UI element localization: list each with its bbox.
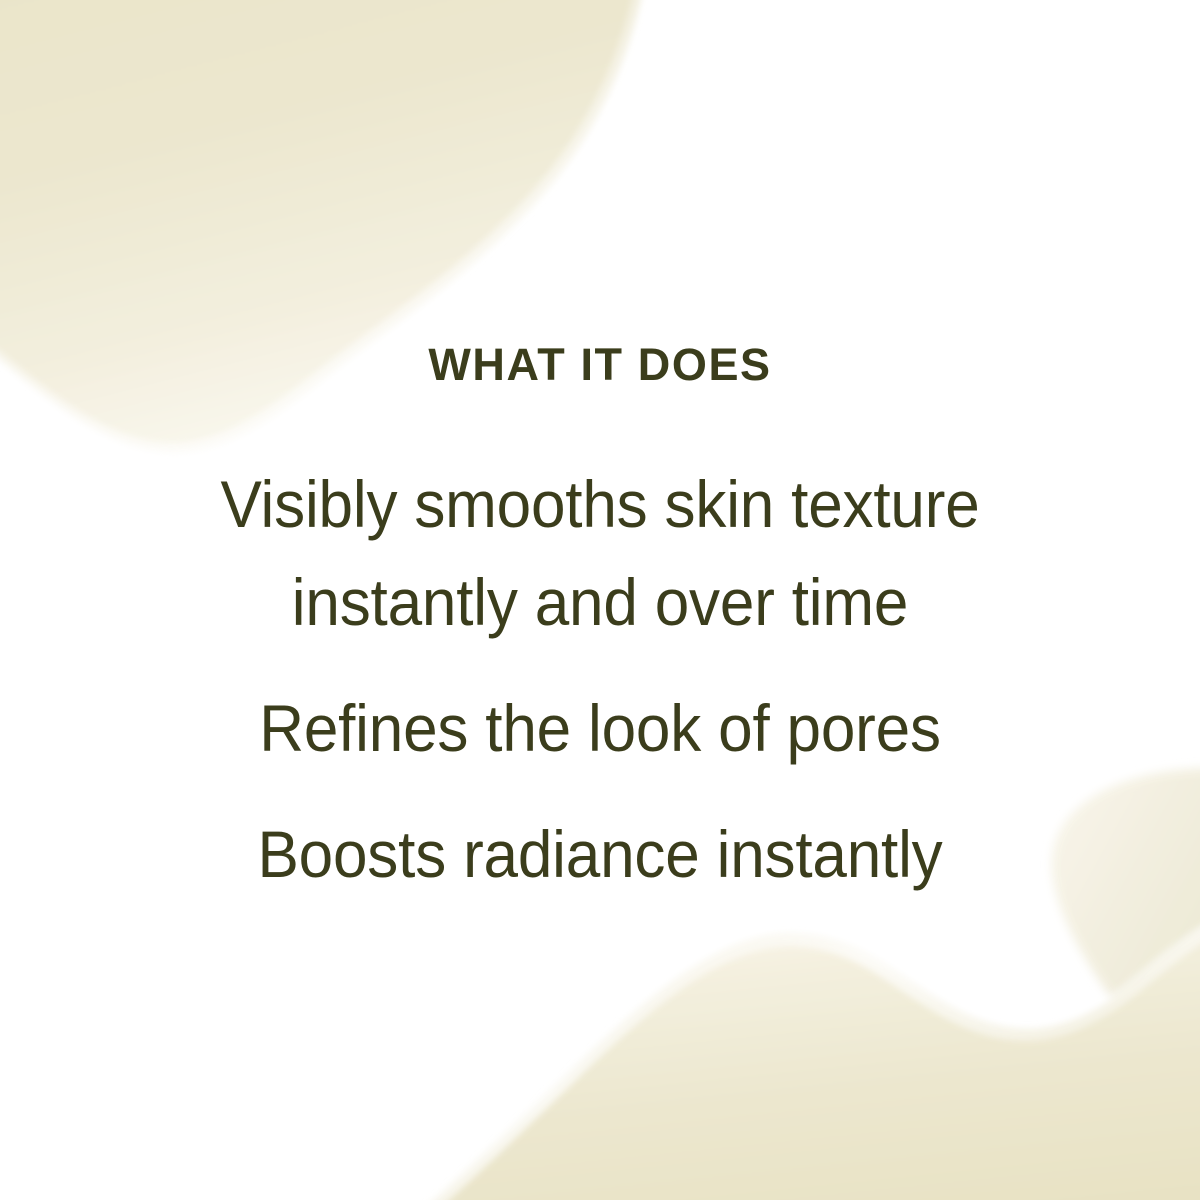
benefit-line: Refines the look of pores — [36, 679, 1164, 777]
benefit-line: instantly and over time — [36, 553, 1164, 651]
card-content: WHAT IT DOES Visibly smooths skin textur… — [0, 0, 1200, 1200]
list-item: Refines the look of pores — [36, 679, 1164, 777]
list-item: Visibly smooths skin texture instantly a… — [36, 455, 1164, 651]
benefit-list: Visibly smooths skin texture instantly a… — [0, 455, 1200, 903]
benefit-line: Boosts radiance instantly — [36, 805, 1164, 903]
page-title: WHAT IT DOES — [0, 341, 1200, 388]
product-benefits-card: WHAT IT DOES Visibly smooths skin textur… — [0, 0, 1200, 1200]
benefit-line: Visibly smooths skin texture — [36, 455, 1164, 553]
list-item: Boosts radiance instantly — [36, 805, 1164, 903]
